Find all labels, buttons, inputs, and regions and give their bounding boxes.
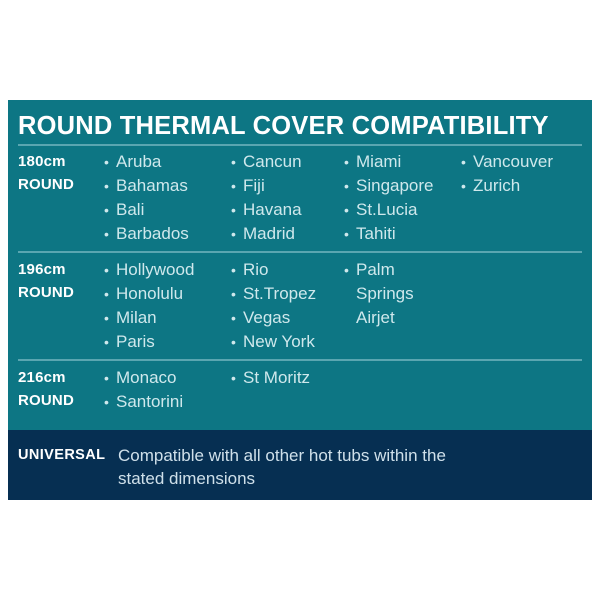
list-item: Hollywood [104,258,225,282]
row-shape-value: ROUND [18,173,104,196]
list-item: New York [231,330,338,354]
card-navy-section: UNIVERSAL Compatible with all other hot … [8,430,592,500]
list-item: Fiji [231,174,338,198]
model-column: Miami Singapore St.Lucia Tahiti [344,150,461,246]
list-item: Bali [104,198,225,222]
list-item: Miami [344,150,455,174]
list-item: Aruba [104,150,225,174]
table-row: 216cm ROUND Monaco Santorini St Moritz [8,366,592,414]
list-item: Tahiti [344,222,455,246]
list-item: Santorini [104,390,225,414]
row-columns: Hollywood Honolulu Milan Paris Rio St.Tr… [104,258,592,354]
compatibility-card: ROUND THERMAL COVER COMPATIBILITY 180cm … [8,100,592,500]
list-item: Milan [104,306,225,330]
table-row: 180cm ROUND Aruba Bahamas Bali Barbados … [8,150,592,246]
divider-row-216cm [18,359,582,361]
list-item: Palm Springs Airjet [344,258,455,330]
divider-under-title [18,144,582,146]
universal-label: UNIVERSAL [8,444,118,467]
list-item: Singapore [344,174,455,198]
model-column: Cancun Fiji Havana Madrid [231,150,344,246]
model-column: St Moritz [231,366,344,390]
row-label-216cm: 216cm ROUND [8,366,104,412]
model-column: Vancouver Zurich [461,150,592,198]
list-item: St.Tropez [231,282,338,306]
list-item: Vancouver [461,150,586,174]
row-label-180cm: 180cm ROUND [8,150,104,196]
list-item: Bahamas [104,174,225,198]
list-item: Havana [231,198,338,222]
list-item: Monaco [104,366,225,390]
page-title: ROUND THERMAL COVER COMPATIBILITY [18,112,549,141]
list-item: Honolulu [104,282,225,306]
row-size-value: 180cm [18,150,104,173]
row-columns: Monaco Santorini St Moritz [104,366,592,414]
row-shape-value: ROUND [18,389,104,412]
row-shape-value: ROUND [18,281,104,304]
model-column: Palm Springs Airjet [344,258,461,330]
screenshot-canvas: ROUND THERMAL COVER COMPATIBILITY 180cm … [0,0,600,600]
divider-row-196cm [18,251,582,253]
card-teal-section: ROUND THERMAL COVER COMPATIBILITY 180cm … [8,100,592,430]
list-item: Cancun [231,150,338,174]
list-item: St.Lucia [344,198,455,222]
universal-description: Compatible with all other hot tubs withi… [118,444,488,490]
list-item: St Moritz [231,366,338,390]
model-column: Aruba Bahamas Bali Barbados [104,150,231,246]
table-row: 196cm ROUND Hollywood Honolulu Milan Par… [8,258,592,354]
list-item: Paris [104,330,225,354]
list-item: Barbados [104,222,225,246]
model-column: Monaco Santorini [104,366,231,414]
list-item: Vegas [231,306,338,330]
row-columns: Aruba Bahamas Bali Barbados Cancun Fiji … [104,150,592,246]
row-size-value: 216cm [18,366,104,389]
row-size-value: 196cm [18,258,104,281]
universal-row: UNIVERSAL Compatible with all other hot … [8,444,592,490]
list-item: Zurich [461,174,586,198]
row-label-196cm: 196cm ROUND [8,258,104,304]
model-column: Hollywood Honolulu Milan Paris [104,258,231,354]
model-column: Rio St.Tropez Vegas New York [231,258,344,354]
list-item: Rio [231,258,338,282]
list-item: Madrid [231,222,338,246]
